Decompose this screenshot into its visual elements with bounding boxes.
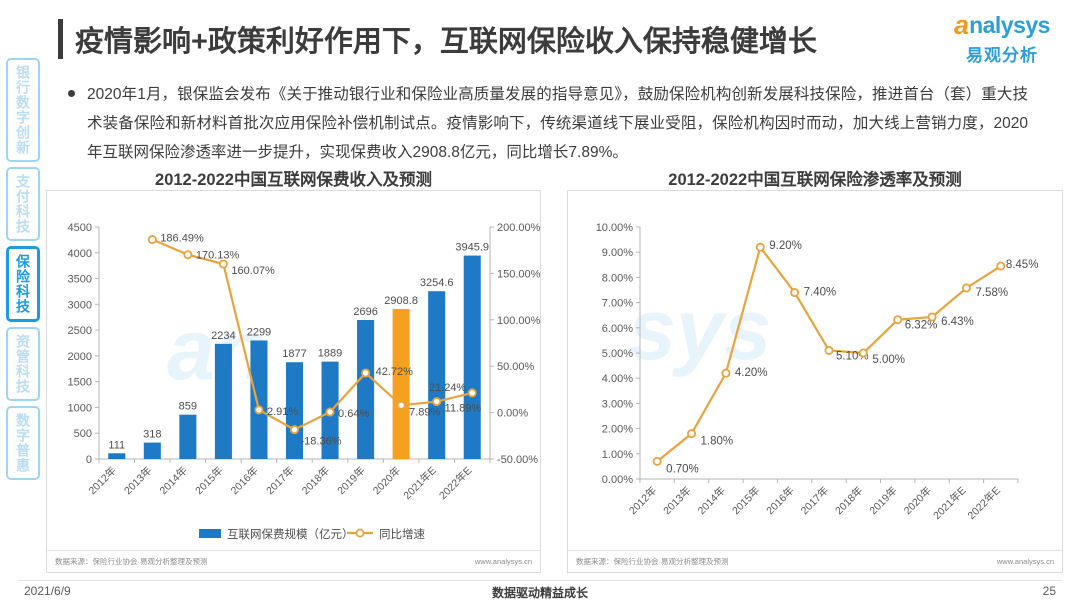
sidebar-item-payment[interactable]: 支付科技 [6,167,40,241]
svg-text:2013年: 2013年 [661,484,694,517]
chart-title-right: 2012-2022中国互联网保险渗透率及预测 [567,166,1063,190]
svg-text:5.00%: 5.00% [602,348,633,360]
footer-divider [18,580,1062,581]
footer-page-number: 25 [1043,584,1056,598]
svg-text:1877: 1877 [282,348,306,360]
footer: 2021/6/9 数据驱动精益成长 25 [0,580,1080,602]
svg-text:0.70%: 0.70% [666,463,699,475]
svg-text:4.00%: 4.00% [602,373,633,385]
svg-text:7.58%: 7.58% [975,287,1008,299]
svg-text:0.00%: 0.00% [602,474,633,486]
svg-text:2018年: 2018年 [832,484,865,517]
svg-text:2015年: 2015年 [729,484,762,517]
svg-text:2299: 2299 [247,326,271,338]
svg-text:3000: 3000 [68,299,92,311]
source-bar-left: 数据来源：保险行业协会·易观分析整理及预测 www.analysys.cn [47,550,540,572]
svg-text:2.00%: 2.00% [602,424,633,436]
logo-wordmark: nalysys [969,14,1050,37]
svg-text:2016年: 2016年 [764,484,797,517]
svg-text:859: 859 [179,401,197,413]
svg-text:2022年E: 2022年E [965,484,1003,522]
svg-text:1889: 1889 [318,348,342,360]
svg-text:50.00%: 50.00% [497,361,535,373]
svg-text:111: 111 [108,439,125,451]
svg-text:2021年E: 2021年E [401,464,439,502]
svg-text:186.49%: 186.49% [160,233,204,245]
bullet-dot-icon [68,90,75,97]
footer-slogan: 数据驱动精益成长 [0,584,1080,601]
title-rule [58,19,63,59]
sidebar-item-asset[interactable]: 资管科技 [6,327,40,401]
chart-title-left: 2012-2022中国互联网保费收入及预测 [46,166,541,190]
svg-text:5.00%: 5.00% [872,354,905,366]
svg-text:2019年: 2019年 [335,464,368,497]
svg-text:318: 318 [143,429,161,441]
source-url-right: www.analysys.cn [997,557,1054,566]
svg-text:150.00%: 150.00% [497,268,540,280]
chart-panel-premium: an 050010001500200025003000350040004500-… [46,190,541,573]
svg-text:4.20%: 4.20% [735,367,768,379]
svg-text:42.72%: 42.72% [376,366,414,378]
svg-text:2696: 2696 [353,306,377,318]
svg-text:1000: 1000 [68,402,92,414]
svg-text:4500: 4500 [68,222,92,234]
svg-text:2014年: 2014年 [695,484,728,517]
source-text-right: 数据来源：保险行业协会·易观分析整理及预测 [576,556,729,567]
svg-text:1.00%: 1.00% [602,449,633,461]
svg-text:8.00%: 8.00% [602,272,633,284]
svg-text:1500: 1500 [68,377,92,389]
svg-text:7.00%: 7.00% [602,298,633,310]
slide: 疫情影响+政策利好作用下，互联网保险收入保持稳健增长 a nalysys 易观分… [0,0,1080,608]
svg-text:2019年: 2019年 [867,484,900,517]
svg-text:3500: 3500 [68,274,92,286]
analysys-logo: a nalysys 易观分析 [942,12,1062,66]
bullet-paragraph: 2020年1月，银保监会发布《关于推动银行业和保险业高质量发展的指导意见》，鼓励… [68,80,1028,167]
source-text-left: 数据来源：保险行业协会·易观分析整理及预测 [55,556,208,567]
title-text: 疫情影响+政策利好作用下，互联网保险收入保持稳健增长 [75,18,817,60]
svg-text:2013年: 2013年 [121,464,154,497]
svg-text:2012年: 2012年 [86,464,119,497]
svg-text:2012年: 2012年 [626,484,659,517]
svg-text:9.20%: 9.20% [769,240,802,252]
svg-text:0.00%: 0.00% [497,408,528,420]
svg-text:8.45%: 8.45% [1006,259,1039,271]
svg-text:3254.6: 3254.6 [420,277,454,289]
svg-text:21.24%: 21.24% [429,382,467,394]
svg-text:同比增速: 同比增速 [379,527,425,541]
svg-text:3945.9: 3945.9 [455,242,489,254]
svg-text:2020年: 2020年 [901,484,934,517]
svg-text:7.40%: 7.40% [804,287,837,299]
svg-text:2000: 2000 [68,351,92,363]
svg-text:2018年: 2018年 [299,464,332,497]
svg-text:2022年E: 2022年E [436,464,474,502]
source-url-left: www.analysys.cn [475,557,532,566]
svg-text:2014年: 2014年 [157,464,190,497]
svg-text:-50.00%: -50.00% [497,454,538,466]
svg-text:4000: 4000 [68,248,92,260]
svg-text:2020年: 2020年 [370,464,403,497]
svg-text:2.91%: 2.91% [267,406,298,418]
svg-text:7.89%: 7.89% [409,406,440,418]
svg-text:6.32%: 6.32% [905,320,938,332]
svg-text:2021年E: 2021年E [930,484,968,522]
bullet-text: 2020年1月，银保监会发布《关于推动银行业和保险业高质量发展的指导意见》，鼓励… [87,80,1028,167]
svg-text:100.00%: 100.00% [497,315,540,327]
svg-text:2017年: 2017年 [263,464,296,497]
svg-text:-18.36%: -18.36% [301,436,342,448]
source-bar-right: 数据来源：保险行业协会·易观分析整理及预测 www.analysys.cn [568,550,1062,572]
penetration-line-chart: 0.00%1.00%2.00%3.00%4.00%5.00%6.00%7.00%… [568,191,1062,572]
sidebar-item-banking[interactable]: 银行数字创新 [6,58,40,162]
svg-text:2015年: 2015年 [192,464,225,497]
svg-text:160.07%: 160.07% [231,265,275,277]
svg-text:0.64%: 0.64% [338,408,369,420]
svg-text:500: 500 [74,428,92,440]
svg-text:互联网保费规模（亿元）: 互联网保费规模（亿元） [227,527,354,541]
svg-text:2908.8: 2908.8 [384,295,418,307]
logo-chinese: 易观分析 [942,41,1062,66]
svg-text:6.43%: 6.43% [941,316,974,328]
sidebar: 银行数字创新 支付科技 保险科技 资管科技 数字普惠 [6,58,40,480]
svg-text:2017年: 2017年 [798,484,831,517]
svg-text:3.00%: 3.00% [602,398,633,410]
svg-text:6.00%: 6.00% [602,323,633,335]
svg-text:9.00%: 9.00% [602,247,633,259]
sidebar-item-inclusive[interactable]: 数字普惠 [6,406,40,480]
svg-text:0: 0 [86,454,92,466]
svg-text:200.00%: 200.00% [497,222,540,234]
svg-text:1.80%: 1.80% [701,436,734,448]
svg-text:2234: 2234 [211,330,235,342]
svg-text:11.89%: 11.89% [445,403,482,415]
svg-text:10.00%: 10.00% [596,222,634,234]
svg-text:170.13%: 170.13% [196,250,240,262]
svg-text:2016年: 2016年 [228,464,261,497]
page-title: 疫情影响+政策利好作用下，互联网保险收入保持稳健增长 [58,18,817,60]
chart-panel-penetration: sys 0.00%1.00%2.00%3.00%4.00%5.00%6.00%7… [567,190,1063,573]
svg-text:2500: 2500 [68,325,92,337]
logo-mark-icon: a [954,12,969,39]
sidebar-item-insurance[interactable]: 保险科技 [6,246,40,322]
premium-combo-chart: 050010001500200025003000350040004500-50.… [47,191,540,572]
